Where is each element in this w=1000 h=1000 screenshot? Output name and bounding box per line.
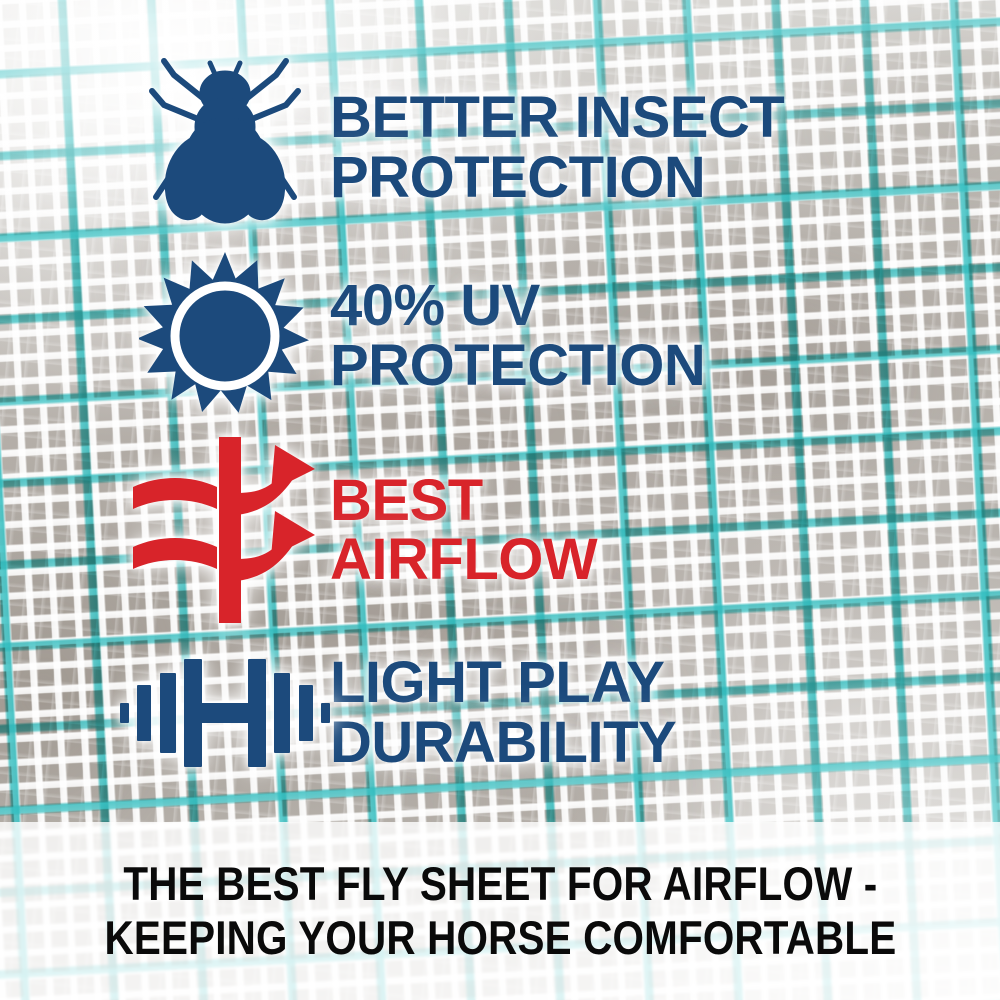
dumbbell-icon (120, 653, 330, 773)
feature-row-durability: LIGHT PLAY DURABILITY (120, 630, 910, 795)
banner-line-2: KEEPING YOUR HORSE COMFORTABLE (104, 911, 896, 965)
feature-row-uv-protection: 40% UV PROTECTION (120, 248, 910, 423)
feature-label-uv-protection: 40% UV PROTECTION (330, 276, 910, 394)
airflow-icon (120, 435, 330, 625)
bottom-banner: THE BEST FLY SHEET FOR AIRFLOW - KEEPING… (0, 822, 1000, 1000)
feature-label-durability: LIGHT PLAY DURABILITY (330, 653, 910, 771)
banner-line-1: THE BEST FLY SHEET FOR AIRFLOW - (123, 857, 877, 911)
fly-icon (120, 55, 330, 240)
feature-row-airflow: BEST AIRFLOW (120, 435, 910, 625)
feature-label-insect-protection: BETTER INSECT PROTECTION (330, 88, 910, 206)
sun-icon (120, 250, 330, 422)
feature-label-airflow: BEST AIRFLOW (330, 471, 910, 589)
product-feature-poster: BETTER INSECT PROTECTION 40% UV PROTECTI… (0, 0, 1000, 1000)
feature-row-insect-protection: BETTER INSECT PROTECTION (120, 55, 910, 240)
feature-list: BETTER INSECT PROTECTION 40% UV PROTECTI… (0, 0, 1000, 822)
